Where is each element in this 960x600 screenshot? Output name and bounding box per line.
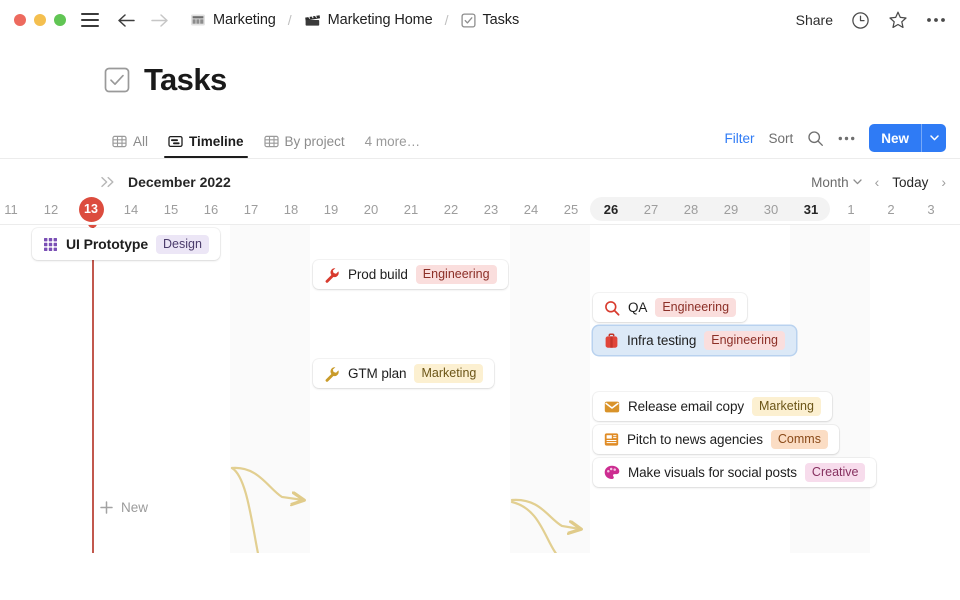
window-bottom-area: [0, 553, 960, 600]
more-horizontal-icon[interactable]: [926, 17, 946, 23]
ruler-day-label: 11: [4, 202, 18, 217]
ruler-day-16[interactable]: 16: [191, 196, 231, 222]
ruler-day-14[interactable]: 14: [111, 196, 151, 222]
ruler-day-label: 1: [847, 202, 854, 217]
close-window-button[interactable]: [14, 14, 26, 26]
breadcrumb-item-marketing[interactable]: Marketing: [185, 9, 281, 31]
timeline-card[interactable]: Prod buildEngineering: [313, 260, 508, 289]
column-band: [790, 225, 870, 553]
timeline-card-title: Pitch to news agencies: [627, 432, 763, 447]
timeline-next-button[interactable]: ›: [941, 174, 946, 190]
today-day-pill: 13: [79, 197, 104, 222]
page-title: Tasks: [144, 62, 227, 98]
page-header: Tasks: [0, 62, 960, 98]
filter-button[interactable]: Filter: [724, 131, 754, 146]
ruler-day-label: 28: [684, 202, 698, 217]
star-icon[interactable]: [888, 10, 908, 30]
ruler-day-label: 14: [124, 202, 138, 217]
ruler-day-label: 31: [804, 202, 818, 217]
tab-label: Timeline: [189, 134, 244, 149]
new-button-label: New: [869, 124, 921, 152]
tab-all[interactable]: All: [104, 130, 156, 158]
column-band: [510, 225, 590, 553]
clapperboard-icon: [304, 12, 321, 28]
add-new-row-label: New: [121, 500, 148, 515]
timeline-controls: Month ‹ Today ›: [811, 174, 960, 190]
palette-icon: [604, 465, 620, 480]
magnifier-icon: [604, 300, 620, 316]
breadcrumb: Marketing / Marketing Home /: [185, 9, 524, 31]
maximize-window-button[interactable]: [54, 14, 66, 26]
timeline-zoom-label: Month: [811, 175, 849, 190]
chevron-down-icon: [853, 179, 862, 185]
ruler-day-label: 18: [284, 202, 298, 217]
ruler-day-20[interactable]: 20: [351, 196, 391, 222]
timeline-card-tag: Design: [156, 235, 209, 254]
timeline-card[interactable]: QAEngineering: [593, 293, 747, 322]
ruler-day-label: 16: [204, 202, 218, 217]
ruler-day-label: 26: [604, 202, 618, 217]
timeline-card-tag: Engineering: [704, 331, 785, 350]
page-title-row: Tasks: [0, 62, 960, 98]
ruler-day-label: 24: [524, 202, 538, 217]
timeline-month-label: December 2022: [128, 174, 231, 190]
timeline-card-title: Infra testing: [627, 333, 696, 348]
search-icon[interactable]: [807, 130, 824, 147]
window-titlebar: Marketing / Marketing Home /: [0, 0, 960, 40]
view-tabs: All Timeline: [0, 130, 428, 158]
chevron-down-icon[interactable]: [921, 124, 946, 152]
ruler-day-15[interactable]: 15: [151, 196, 191, 222]
breadcrumb-label: Marketing: [213, 12, 276, 28]
ruler-day-29[interactable]: 29: [711, 196, 751, 222]
tab-label: By project: [285, 134, 345, 149]
timeline-card-tag: Marketing: [752, 397, 821, 416]
timeline-card-tag: Creative: [805, 463, 866, 482]
tabs-more-button[interactable]: 4 more…: [357, 130, 429, 158]
minimize-window-button[interactable]: [34, 14, 46, 26]
luggage-icon: [604, 333, 619, 349]
titlebar-actions: Share: [796, 0, 946, 40]
ruler-day-label: 2: [887, 202, 894, 217]
notion-timeline-window: Marketing / Marketing Home /: [0, 0, 960, 600]
checkbox-icon: [461, 13, 476, 28]
ruler-day-label: 20: [364, 202, 378, 217]
ruler-day-25[interactable]: 25: [551, 196, 591, 222]
column-band: [230, 225, 310, 553]
ruler-day-1[interactable]: 1: [831, 196, 871, 222]
ruler-day-label: 15: [164, 202, 178, 217]
timeline-today-button[interactable]: Today: [892, 175, 928, 190]
share-button[interactable]: Share: [796, 12, 833, 28]
ruler-day-label: 19: [324, 202, 338, 217]
timeline-card-title: Release email copy: [628, 399, 744, 414]
grid-icon: [43, 237, 58, 252]
timeline-card-title: UI Prototype: [66, 236, 148, 252]
breadcrumb-label: Tasks: [483, 12, 520, 28]
timeline-month-group: December 2022: [0, 174, 231, 190]
forward-arrow-icon[interactable]: [150, 13, 169, 28]
timeline-card-title: QA: [628, 300, 647, 315]
breadcrumb-item-tasks[interactable]: Tasks: [456, 9, 525, 31]
ruler-day-21[interactable]: 21: [391, 196, 431, 222]
breadcrumb-separator: /: [288, 12, 292, 28]
ruler-day-12[interactable]: 12: [31, 196, 71, 222]
timeline-card-tag: Marketing: [414, 364, 483, 383]
ruler-day-18[interactable]: 18: [271, 196, 311, 222]
wrench-icon: [324, 366, 340, 382]
envelope-icon: [604, 400, 620, 414]
timeline-card-title: Make visuals for social posts: [628, 465, 797, 480]
timeline-card-tag: Engineering: [655, 298, 736, 317]
ruler-day-22[interactable]: 22: [431, 196, 471, 222]
sort-button[interactable]: Sort: [768, 131, 793, 146]
ruler-day-label: 17: [244, 202, 258, 217]
sidebar-toggle-icon[interactable]: [81, 13, 99, 27]
ruler-day-11[interactable]: 11: [0, 196, 31, 222]
timeline-header: December 2022 Month ‹ Today ›: [0, 168, 960, 196]
ruler-day-13[interactable]: 13: [71, 196, 111, 222]
ruler-day-2[interactable]: 2: [871, 196, 911, 222]
table-icon: [264, 134, 279, 149]
ruler-day-label: 29: [724, 202, 738, 217]
timeline-card-tag: Engineering: [416, 265, 497, 284]
ruler-day-3[interactable]: 3: [911, 196, 951, 222]
timeline-card[interactable]: GTM planMarketing: [313, 359, 494, 388]
timeline-card-title: Prod build: [348, 267, 408, 282]
table-icon: [112, 134, 127, 149]
tab-by-project[interactable]: By project: [256, 130, 353, 158]
tab-label: All: [133, 134, 148, 149]
ruler-day-label: 3: [927, 202, 934, 217]
breadcrumb-item-marketing-home[interactable]: Marketing Home: [299, 9, 438, 31]
timeline-card[interactable]: Make visuals for social postsCreative: [593, 458, 876, 487]
timeline-card[interactable]: Pitch to news agenciesComms: [593, 425, 839, 454]
tab-timeline[interactable]: Timeline: [160, 130, 252, 158]
ruler-day-19[interactable]: 19: [311, 196, 351, 222]
timeline-card-tag: Comms: [771, 430, 828, 449]
window-page-icon: [190, 12, 206, 28]
history-nav: [117, 13, 169, 28]
chevron-double-right-icon[interactable]: [100, 176, 116, 188]
ruler-day-label: 23: [484, 202, 498, 217]
today-marker-line: [92, 225, 94, 553]
clock-icon[interactable]: [851, 11, 870, 30]
view-actions: Filter Sort New: [724, 124, 960, 158]
ruler-day-label: 27: [644, 202, 658, 217]
breadcrumb-separator: /: [445, 12, 449, 28]
timeline-date-ruler: 1112131415161718192021222324252627282930…: [0, 196, 960, 222]
timeline-zoom-select[interactable]: Month: [811, 175, 862, 190]
newspaper-icon: [604, 432, 619, 447]
back-arrow-icon[interactable]: [117, 13, 136, 28]
ruler-day-17[interactable]: 17: [231, 196, 271, 222]
timeline-card-title: GTM plan: [348, 366, 406, 381]
wrench-icon: [324, 267, 340, 283]
ruler-day-label: 12: [44, 202, 58, 217]
ruler-day-label: 30: [764, 202, 778, 217]
view-tabbar: All Timeline: [0, 126, 960, 158]
more-horizontal-icon[interactable]: [838, 136, 855, 141]
ruler-day-28[interactable]: 28: [671, 196, 711, 222]
ruler-day-label: 22: [444, 202, 458, 217]
tabbar-divider: [0, 158, 960, 159]
traffic-lights: [14, 14, 66, 26]
ruler-day-30[interactable]: 30: [751, 196, 791, 222]
ruler-day-24[interactable]: 24: [511, 196, 551, 222]
plus-icon: [100, 501, 113, 514]
timeline-icon: [168, 134, 183, 149]
breadcrumb-label: Marketing Home: [328, 12, 433, 28]
new-button[interactable]: New: [869, 124, 946, 152]
timeline-prev-button[interactable]: ‹: [875, 174, 880, 190]
ruler-day-label: 21: [404, 202, 418, 217]
checkbox-icon: [104, 67, 130, 93]
ruler-day-23[interactable]: 23: [471, 196, 511, 222]
ruler-day-label: 25: [564, 202, 578, 217]
timeline-grid: UI PrototypeDesignProd buildEngineeringG…: [0, 225, 960, 553]
ruler-day-31[interactable]: 31: [791, 196, 831, 222]
ruler-day-27[interactable]: 27: [631, 196, 671, 222]
add-new-row-button[interactable]: New: [100, 500, 148, 515]
timeline-card[interactable]: UI PrototypeDesign: [32, 228, 220, 260]
ruler-day-26[interactable]: 26: [591, 196, 631, 222]
timeline-card[interactable]: Infra testingEngineering: [593, 326, 796, 355]
timeline-card[interactable]: Release email copyMarketing: [593, 392, 832, 421]
